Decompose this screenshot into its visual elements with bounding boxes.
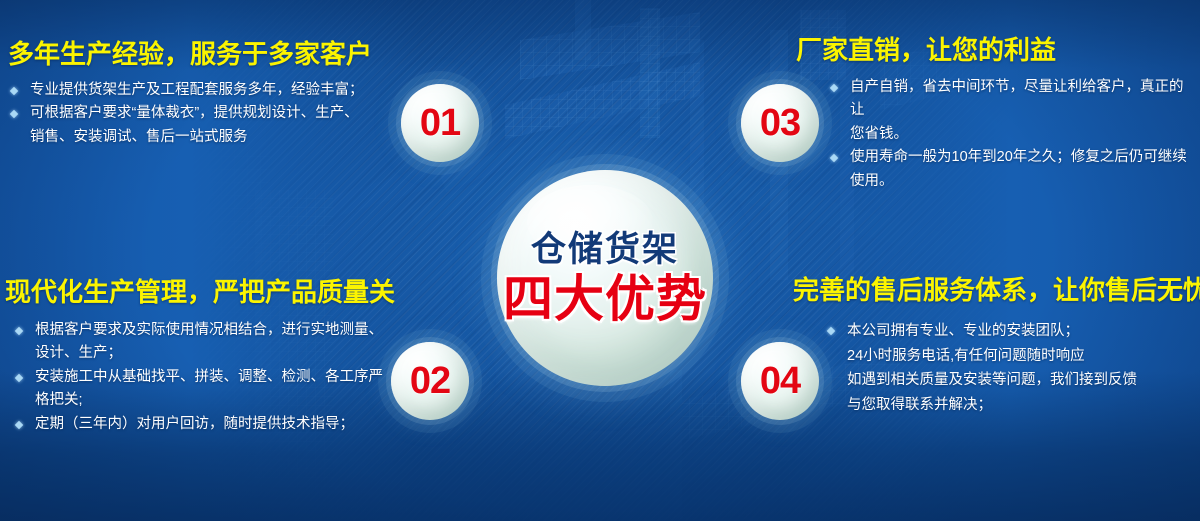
advantage-03-bullets: 自产自销，省去中间环节，尽量让利给客户，真正的让您省钱。使用寿命一般为10年到2…	[796, 76, 1192, 193]
bullet-line: 使用寿命一般为10年到20年之久；修复之后仍可继续	[850, 146, 1192, 169]
bullet-line: 销售、安装调试、售后一站式服务	[30, 126, 400, 149]
bullet-line: 定期（三年内）对用户回访，随时提供技术指导；	[35, 413, 401, 436]
advantage-block-01: 多年生产经验，服务于多家客户 专业提供货架生产及工程配套服务多年，经验丰富；可根…	[8, 40, 400, 149]
advantage-01-bullets: 专业提供货架生产及工程配套服务多年，经验丰富；可根据客户要求“量体裁衣”，提供规…	[8, 79, 400, 149]
bullet-line: 如遇到相关质量及安装等问题，我们接到反馈	[847, 368, 1197, 393]
center-sphere: 仓储货架 四大优势	[497, 170, 713, 386]
infographic-canvas: 仓储货架 四大优势 01 03 02 04 多年生产经验，服务于多家客户 专业提…	[0, 0, 1200, 521]
advantage-02-bullets: 根据客户要求及实际使用情况相结合，进行实地测量、设计、生产；安装施工中从基础找平…	[5, 319, 401, 436]
bullet-item: 可根据客户要求“量体裁衣”，提供规划设计、生产、销售、安装调试、售后一站式服务	[8, 102, 400, 149]
center-subtitle: 仓储货架	[531, 232, 679, 267]
bullet-item: 定期（三年内）对用户回访，随时提供技术指导；	[13, 413, 401, 436]
bullet-line: 自产自销，省去中间环节，尽量让利给客户，真正的让	[850, 76, 1192, 123]
bullet-line: 设计、生产；	[35, 342, 401, 365]
bullet-line: 可根据客户要求“量体裁衣”，提供规划设计、生产、	[30, 102, 400, 125]
bullet-line: 根据客户要求及实际使用情况相结合，进行实地测量、	[35, 319, 401, 342]
advantage-block-03: 厂家直销，让您的利益 自产自销，省去中间环节，尽量让利给客户，真正的让您省钱。使…	[796, 36, 1192, 193]
bullet-item: 自产自销，省去中间环节，尽量让利给客户，真正的让您省钱。	[828, 76, 1192, 146]
advantage-block-02: 现代化生产管理，严把产品质量关 根据客户要求及实际使用情况相结合，进行实地测量、…	[5, 278, 401, 436]
advantage-04-bullets: 本公司拥有专业、专业的安装团队；24小时服务电话,有任何问题随时响应如遇到相关质…	[793, 319, 1197, 419]
badge-01: 01	[401, 84, 479, 162]
bullet-item: 专业提供货架生产及工程配套服务多年，经验丰富；	[8, 79, 400, 102]
advantage-04-heading: 完善的售后服务体系，让你售后无忧	[793, 276, 1197, 305]
badge-02: 02	[391, 342, 469, 420]
bullet-item: 安装施工中从基础找平、拼装、调整、检测、各工序严格把关;	[13, 366, 401, 413]
badge-01-number: 01	[420, 104, 460, 142]
bullet-line: 您省钱。	[850, 123, 1192, 146]
bullet-line: 与您取得联系并解决；	[847, 393, 1197, 418]
bullet-line: 使用。	[850, 170, 1192, 193]
bullet-line: 安装施工中从基础找平、拼装、调整、检测、各工序严	[35, 366, 401, 389]
bullet-line: 专业提供货架生产及工程配套服务多年，经验丰富；	[30, 79, 400, 102]
advantage-03-heading: 厂家直销，让您的利益	[796, 36, 1192, 65]
bullet-line: 格把关;	[35, 389, 401, 412]
bullet-line: 本公司拥有专业、专业的安装团队；	[847, 319, 1197, 344]
bullet-item: 使用寿命一般为10年到20年之久；修复之后仍可继续使用。	[828, 146, 1192, 193]
badge-03-number: 03	[760, 104, 800, 142]
badge-02-number: 02	[410, 362, 450, 400]
advantage-02-heading: 现代化生产管理，严把产品质量关	[5, 278, 401, 307]
bullet-item: 根据客户要求及实际使用情况相结合，进行实地测量、设计、生产；	[13, 319, 401, 366]
bullet-line: 24小时服务电话,有任何问题随时响应	[847, 344, 1197, 369]
advantage-block-04: 完善的售后服务体系，让你售后无忧 本公司拥有专业、专业的安装团队；24小时服务电…	[793, 276, 1197, 418]
bullet-item: 本公司拥有专业、专业的安装团队；24小时服务电话,有任何问题随时响应如遇到相关质…	[825, 319, 1197, 419]
center-title: 四大优势	[503, 274, 707, 324]
advantage-01-heading: 多年生产经验，服务于多家客户	[8, 40, 400, 69]
